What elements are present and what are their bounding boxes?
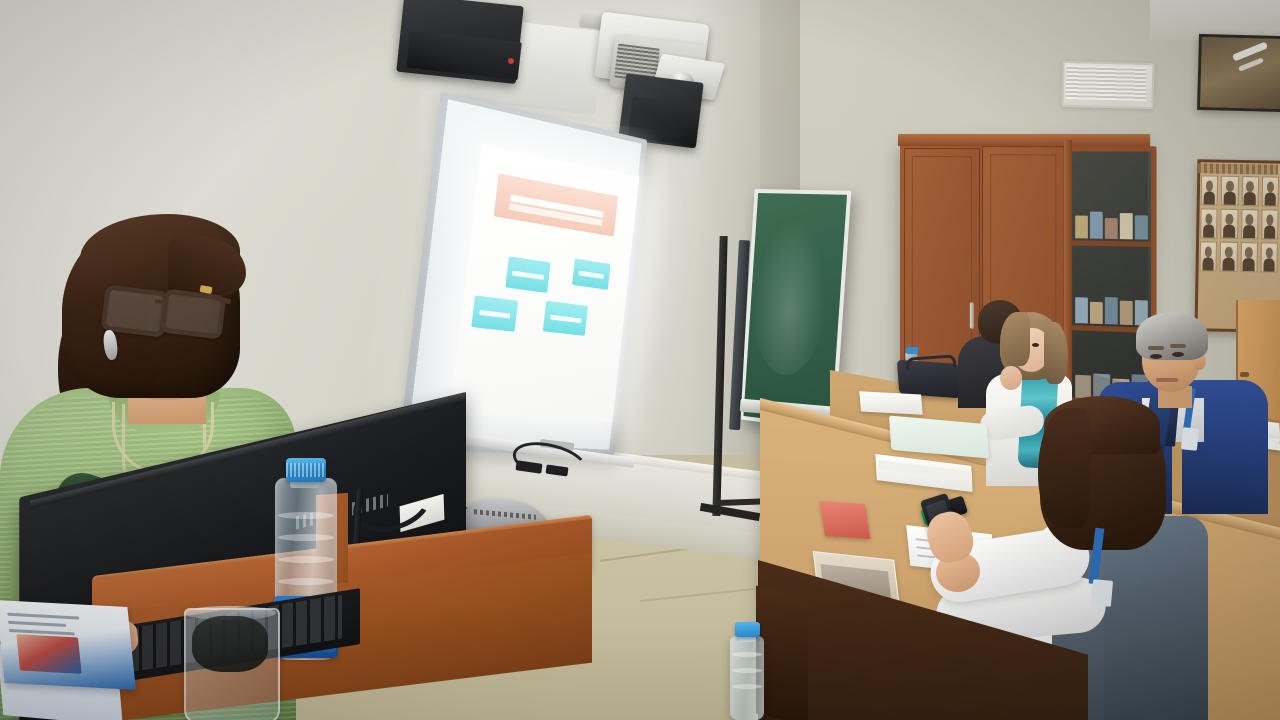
bottle-ripple [732,684,762,689]
bottle-ripple [278,512,334,519]
books-row [1075,211,1148,239]
bottle-ripple [278,556,334,563]
portrait-photo [1241,209,1259,239]
bottle-ripple [732,668,762,673]
projected-slide [450,144,640,423]
slide-node-3 [471,295,518,332]
portrait-photo [1200,208,1218,238]
portrait-photo [1261,209,1279,239]
portrait-photo [1240,242,1258,272]
books-row [1075,296,1148,325]
slide-node-1 [505,256,550,293]
attendee-3-eye [1032,343,1039,347]
portrait-photo [1220,209,1238,239]
attendee-2-eye [1172,352,1184,357]
slide-node-4-text [550,314,581,323]
portrait-photo [1260,242,1278,272]
cabinet-cornice [898,134,1150,147]
water-bottle-foreground[interactable] [730,636,764,720]
photo-gallery-header [1198,163,1278,174]
bottle-ripple [732,652,762,657]
attendee-1-badge [1091,579,1113,607]
brochure-image [16,634,81,674]
attendee-3-hair-front [1000,312,1030,366]
notebook[interactable] [859,391,923,414]
attendee-3-hand [1000,366,1022,390]
bottle-ripple [278,534,334,541]
red-card[interactable] [820,501,871,539]
slide-title-box [494,173,618,236]
portrait-photo [1220,242,1238,272]
wall-plaque [1197,34,1280,112]
cup-contents [192,616,268,672]
attendee-1-hair-front [1038,408,1090,528]
door-handle[interactable] [1240,372,1249,377]
power-led-icon [508,58,514,64]
slide-node-1-text [512,270,543,279]
slide-title-text [510,194,604,218]
vent-louvers-icon [1066,65,1147,101]
attendee-2-mouth [1156,378,1178,382]
bottle-cap-ridges [286,463,326,477]
photo-gallery-grid [1199,175,1279,308]
cabinet-handle[interactable] [970,302,974,329]
slide-node-4 [543,301,588,336]
portrait-photo [1241,176,1259,206]
portrait-photo [1221,176,1239,206]
attendee-2-eyebrow [1170,344,1186,348]
portrait-photo [1199,241,1217,271]
bottle-cap [906,347,918,354]
attendee-2-eye [1150,354,1162,359]
bottle-cap [735,622,760,637]
portrait-photo [1261,176,1279,206]
slide-node-3-text [479,309,511,318]
portrait-photo [1201,175,1219,205]
bottle-ripple [278,578,334,585]
attendee-2-badge [1181,427,1199,451]
slide-node-2 [572,259,611,290]
attendee-2-eyebrow [1148,346,1164,350]
conference-room-photo: bon aqua [0,0,1280,720]
slide-node-2-text [579,270,605,278]
